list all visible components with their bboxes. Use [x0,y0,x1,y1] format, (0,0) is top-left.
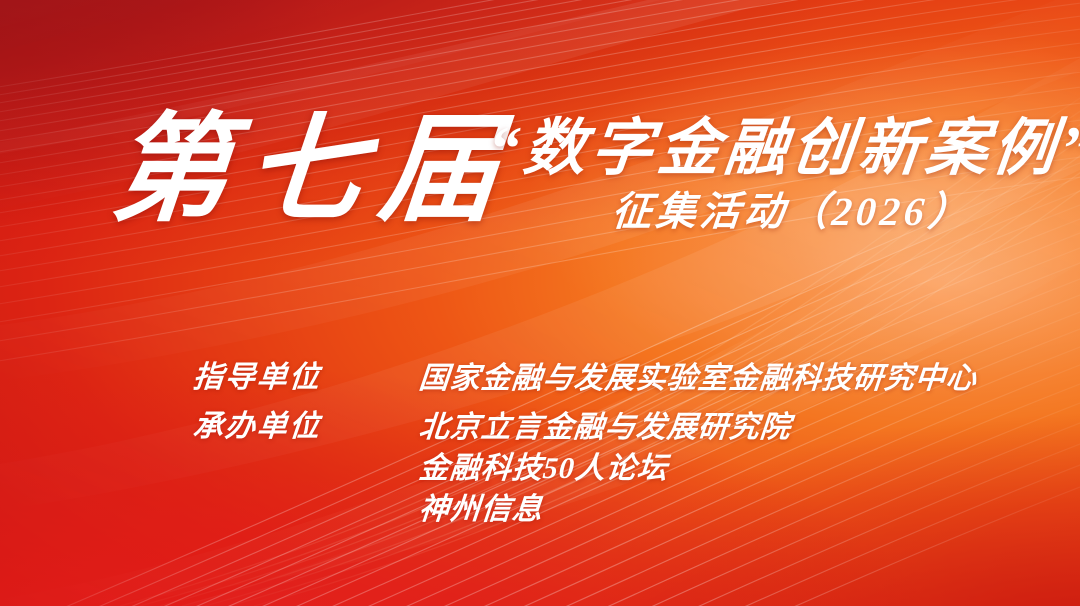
page-title-quoted: “数字金融创新案例” [485,118,1080,180]
credit-label-guidance: 指导单位 [191,358,420,398]
credit-row: 指导单位 国家金融与发展实验室金融科技研究中心 [193,358,1033,399]
credit-label-organizer: 承办单位 [191,407,420,447]
credit-value: 国家金融与发展实验室金融科技研究中心 [417,358,1035,399]
credit-value: 神州信息 [417,489,1035,530]
page-title-prefix: 第七届 [107,112,519,230]
credit-values-guidance: 国家金融与发展实验室金融科技研究中心 [419,358,1033,399]
credit-row: 承办单位 北京立言金融与发展研究院 金融科技50人论坛 神州信息 [193,407,1033,530]
credits-block: 指导单位 国家金融与发展实验室金融科技研究中心 承办单位 北京立言金融与发展研究… [193,358,1033,538]
credit-value: 北京立言金融与发展研究院 [417,407,1035,448]
page-subtitle: 征集活动（2026） [610,192,973,232]
poster-banner: 第七届 “数字金融创新案例” 征集活动（2026） 指导单位 国家金融与发展实验… [0,0,1080,606]
credit-values-organizer: 北京立言金融与发展研究院 金融科技50人论坛 神州信息 [419,407,1033,530]
credit-value: 金融科技50人论坛 [417,448,1035,489]
